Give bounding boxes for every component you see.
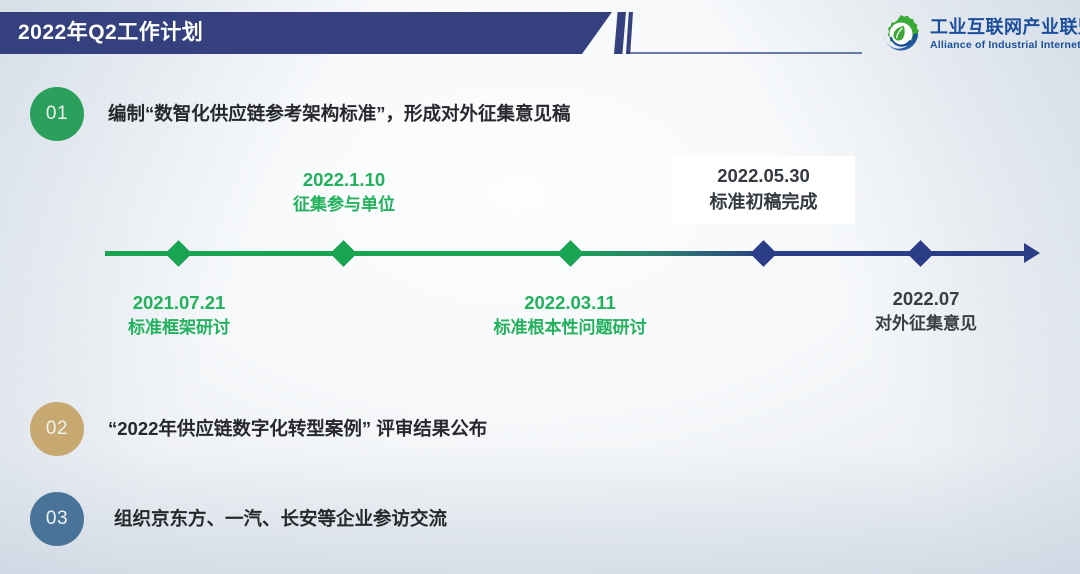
timeline-label-3: 标准根本性问题研讨 bbox=[450, 315, 690, 340]
timeline-marker-4[interactable] bbox=[750, 240, 777, 267]
timeline-label-4: 标准初稿完成 bbox=[690, 189, 837, 216]
slide-canvas: 2022年Q2工作计划 工业互联网产业联盟 Alliance of Indust… bbox=[0, 0, 1080, 574]
timeline-date-5: 2022.07 bbox=[845, 286, 1007, 311]
timeline-caption-4: 2022.05.30 标准初稿完成 bbox=[672, 156, 855, 224]
agenda-number-badge-03: 03 bbox=[30, 492, 84, 546]
timeline-caption-1: 2021.07.21 标准框架研讨 bbox=[83, 290, 275, 340]
timeline-date-3: 2022.03.11 bbox=[450, 290, 690, 315]
logo-chinese-name: 工业互联网产业联盟 bbox=[930, 16, 1080, 38]
agenda-item-02[interactable]: 02 “2022年供应链数字化转型案例” 评审结果公布 bbox=[30, 402, 487, 456]
agenda-item-text-02: “2022年供应链数字化转型案例” 评审结果公布 bbox=[108, 416, 487, 442]
page-title: 2022年Q2工作计划 bbox=[18, 18, 203, 48]
timeline-marker-3[interactable] bbox=[557, 240, 584, 267]
timeline-label-2: 征集参与单位 bbox=[248, 192, 440, 217]
timeline-date-1: 2021.07.21 bbox=[83, 290, 275, 315]
timeline-caption-5: 2022.07 对外征集意见 bbox=[845, 286, 1007, 336]
timeline-label-1: 标准框架研讨 bbox=[83, 315, 275, 340]
header-rule-line bbox=[626, 52, 862, 54]
gear-leaf-logo-icon bbox=[878, 11, 924, 57]
timeline-marker-1[interactable] bbox=[165, 240, 192, 267]
timeline: 2021.07.21 标准框架研讨 2022.1.10 征集参与单位 2022.… bbox=[0, 0, 1080, 574]
agenda-item-text-03: 组织京东方、一汽、长安等企业参访交流 bbox=[114, 506, 447, 532]
organization-logo: 工业互联网产业联盟 Alliance of Industrial Interne… bbox=[878, 10, 1074, 58]
timeline-marker-2[interactable] bbox=[330, 240, 357, 267]
timeline-date-4: 2022.05.30 bbox=[690, 162, 837, 189]
logo-wordmark: 工业互联网产业联盟 Alliance of Industrial Interne… bbox=[930, 16, 1080, 52]
logo-english-name: Alliance of Industrial Internet bbox=[930, 38, 1080, 52]
timeline-caption-3: 2022.03.11 标准根本性问题研讨 bbox=[450, 290, 690, 340]
agenda-item-03[interactable]: 03 组织京东方、一汽、长安等企业参访交流 bbox=[30, 492, 447, 546]
timeline-arrowhead-icon bbox=[1024, 243, 1040, 263]
timeline-marker-5[interactable] bbox=[907, 240, 934, 267]
agenda-number-badge-02: 02 bbox=[30, 402, 84, 456]
timeline-date-2: 2022.1.10 bbox=[248, 167, 440, 192]
timeline-caption-2: 2022.1.10 征集参与单位 bbox=[248, 167, 440, 217]
timeline-label-5: 对外征集意见 bbox=[845, 311, 1007, 336]
